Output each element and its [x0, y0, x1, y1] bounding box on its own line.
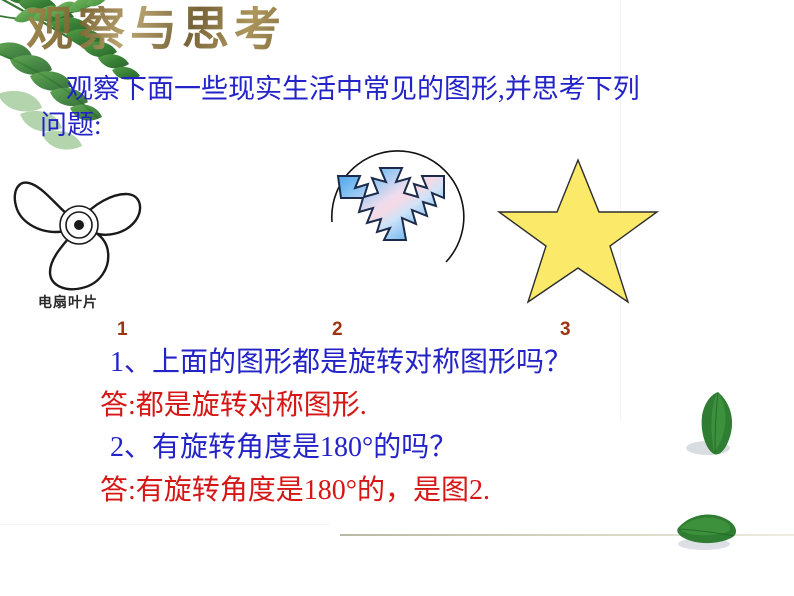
background-panel-seam-horizontal-left [0, 524, 330, 525]
answer-1: 答:都是旋转对称图形. [100, 385, 760, 428]
background-divider-line [340, 534, 794, 536]
figure-1-caption: 电扇叶片 [38, 292, 98, 312]
figure-fan-blade [12, 160, 152, 295]
page-title: 观察与思考 [26, 6, 286, 55]
question-2: 2、有旋转角度是180°的吗？ [110, 427, 760, 470]
lead-paragraph-text: 观察下面一些现实生活中常见的图形,并思考下列问题: [40, 74, 640, 140]
figure-2-number: 2 [332, 319, 343, 341]
slide-canvas: 观察与思考 观察下面一些现实生活中常见的图形,并思考下列问题: 电扇叶片 [0, 0, 794, 596]
figure-1-number: 1 [117, 319, 128, 341]
figure-five-point-star [492, 152, 664, 310]
leaf-decoration-lower [672, 508, 742, 556]
answer-2: 答:有旋转角度是180°的，是图2. [100, 470, 760, 513]
figure-3-number: 3 [560, 319, 571, 341]
figure-rotational-cross [310, 138, 485, 303]
question-1: 1、上面的图形都是旋转对称图形吗？ [110, 342, 760, 385]
question-answer-block: 1、上面的图形都是旋转对称图形吗？ 答:都是旋转对称图形. 2、有旋转角度是18… [100, 342, 760, 512]
lead-paragraph: 观察下面一些现实生活中常见的图形,并思考下列问题: [40, 72, 640, 143]
